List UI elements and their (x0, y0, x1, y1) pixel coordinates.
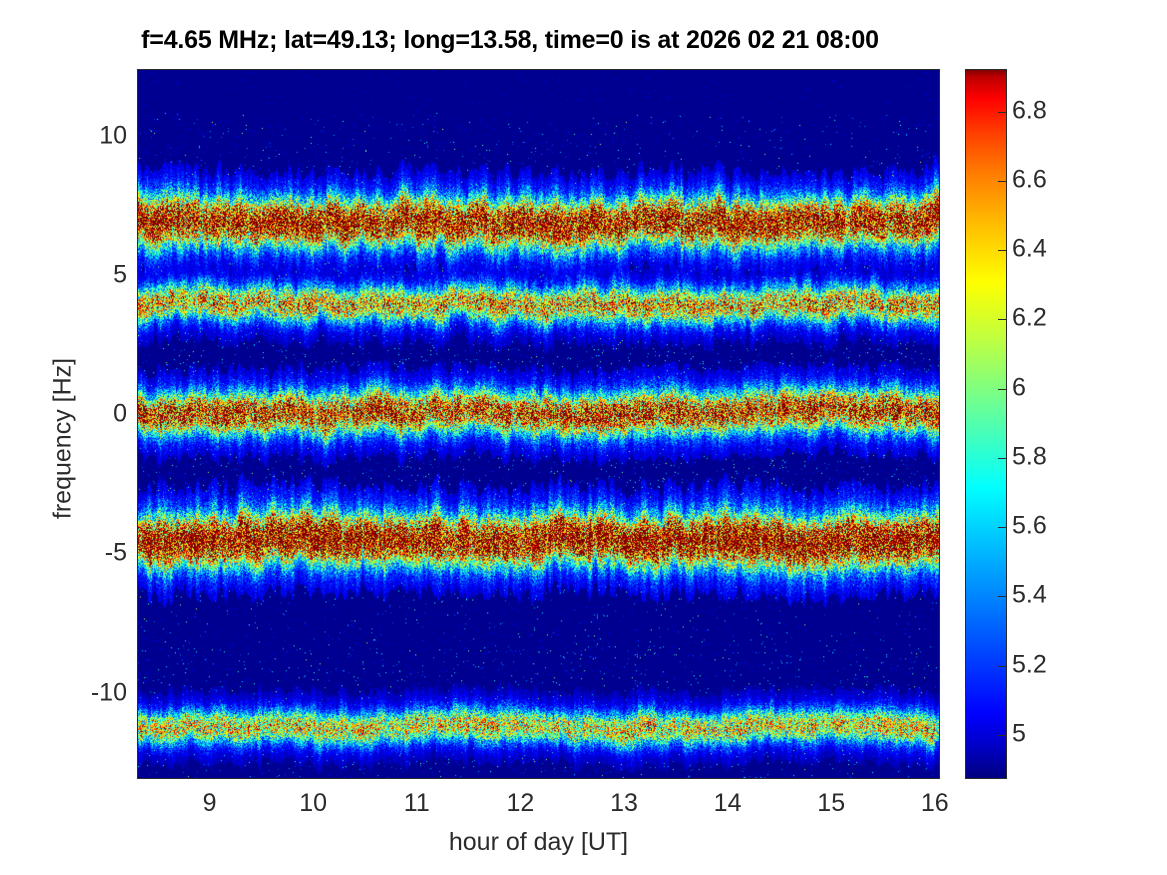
y-tick-label: 5 (113, 261, 127, 290)
x-tick-label: 9 (203, 789, 217, 818)
colorbar-tick-label: 5.8 (1012, 442, 1047, 471)
colorbar-tick-mark (998, 666, 1006, 667)
colorbar-gradient (966, 70, 1006, 778)
colorbar-tick-mark (998, 112, 1006, 113)
colorbar-tick-label: 5 (1012, 719, 1026, 748)
colorbar-tick-label: 5.2 (1012, 650, 1047, 679)
colorbar-ticks: 55.25.45.65.866.26.46.66.8 (1012, 0, 1162, 875)
y-tick-label: -5 (105, 539, 127, 568)
colorbar-tick-mark (998, 319, 1006, 320)
colorbar-tick-label: 6.4 (1012, 235, 1047, 264)
x-tick-label: 11 (404, 789, 430, 818)
y-tick-label: 0 (113, 400, 127, 429)
x-tick-label: 15 (817, 789, 845, 818)
colorbar-tick-mark (998, 181, 1006, 182)
colorbar-tick-label: 6.8 (1012, 96, 1047, 125)
colorbar-tick-mark (998, 389, 1006, 390)
x-tick-label: 16 (921, 789, 949, 818)
colorbar-tick-mark (998, 596, 1006, 597)
colorbar-tick-label: 6.6 (1012, 165, 1047, 194)
colorbar (965, 69, 1007, 779)
x-tick-label: 12 (506, 789, 534, 818)
x-tick-label: 13 (610, 789, 638, 818)
colorbar-tick-label: 6 (1012, 373, 1026, 402)
y-axis-ticks: 1050-5-10 (55, 0, 127, 875)
colorbar-tick-mark (998, 250, 1006, 251)
spectrogram-plot-area (137, 69, 940, 779)
figure-canvas: f=4.65 MHz; lat=49.13; long=13.58, time=… (0, 0, 1167, 875)
chart-title: f=4.65 MHz; lat=49.13; long=13.58, time=… (0, 26, 1020, 55)
colorbar-tick-mark (998, 735, 1006, 736)
colorbar-tick-label: 5.4 (1012, 581, 1047, 610)
colorbar-tick-mark (998, 458, 1006, 459)
colorbar-tick-label: 6.2 (1012, 304, 1047, 333)
y-tick-label: 10 (99, 121, 127, 150)
spectrogram-image (138, 70, 939, 778)
x-tick-label: 10 (299, 789, 327, 818)
colorbar-tick-label: 5.6 (1012, 512, 1047, 541)
colorbar-tick-mark (998, 527, 1006, 528)
y-tick-label: -10 (91, 678, 127, 707)
x-axis-label: hour of day [UT] (137, 828, 940, 857)
x-axis-ticks: 910111213141516 (0, 789, 1167, 823)
x-tick-label: 14 (714, 789, 742, 818)
